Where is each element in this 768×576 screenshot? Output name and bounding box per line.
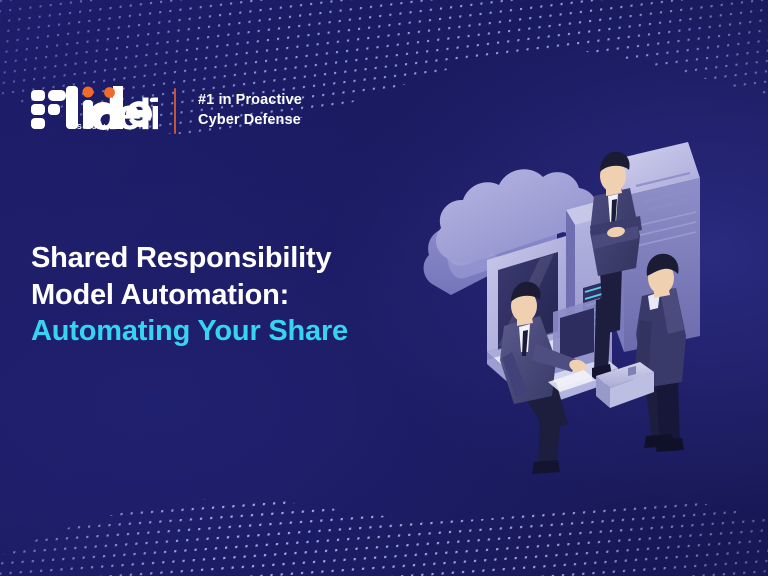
fidelis-logo: delis Security (30, 84, 158, 142)
headline-line-1: Shared Responsibility (31, 240, 348, 277)
brand-divider (174, 88, 176, 134)
headline-line-3-accent: Automating Your Share (31, 313, 348, 350)
logo-registered-mark (150, 98, 154, 102)
brand-tagline: #1 in Proactive Cyber Defense (198, 84, 302, 130)
slide-headline: Shared Responsibility Model Automation: … (31, 240, 348, 350)
logo-dot-l (104, 87, 115, 98)
svg-text:delis: delis (92, 90, 158, 139)
logo-subtext: Security (77, 124, 111, 131)
tagline-line-2: Cyber Defense (198, 110, 302, 130)
tagline-line-1: #1 in Proactive (198, 90, 302, 110)
brand-lockup: delis Security #1 in Proactive Cyber Def… (30, 84, 302, 142)
slide-canvas: delis Security #1 in Proactive Cyber Def… (0, 0, 768, 576)
headline-line-2: Model Automation: (31, 277, 348, 314)
